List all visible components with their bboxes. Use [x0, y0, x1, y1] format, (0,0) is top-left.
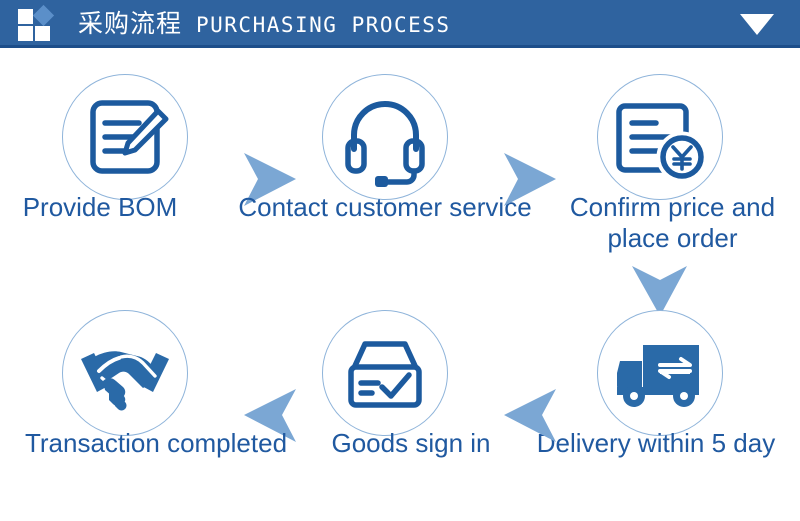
page-title-cn: 采购流程 — [78, 8, 182, 40]
headset-icon — [322, 74, 448, 200]
logo-square-top-left — [18, 9, 33, 24]
purchasing-process-flow: Provide BOM Contact customer service — [0, 48, 800, 521]
delivery-truck-icon — [597, 310, 723, 436]
logo-square-bottom-left — [18, 26, 33, 41]
package-check-icon — [322, 310, 448, 436]
flow-step-label-goods-sign-in: Goods sign in — [300, 428, 522, 459]
flow-step-label-provide-bom: Provide BOM — [0, 192, 200, 223]
page-title-en: PURCHASING PROCESS — [196, 12, 451, 38]
document-pencil-icon — [62, 74, 188, 200]
handshake-icon — [62, 310, 188, 436]
flow-step-label-transaction-completed: Transaction completed — [0, 428, 312, 459]
triangle-down-icon[interactable] — [740, 14, 774, 35]
logo-diamond-top-right — [33, 5, 54, 26]
logo-square-bottom-right — [35, 26, 50, 41]
invoice-yen-icon — [597, 74, 723, 200]
page-header: 采购流程 PURCHASING PROCESS — [0, 0, 800, 48]
flow-step-label-confirm-price: Confirm price and place order — [545, 192, 800, 254]
company-logo — [18, 7, 64, 42]
